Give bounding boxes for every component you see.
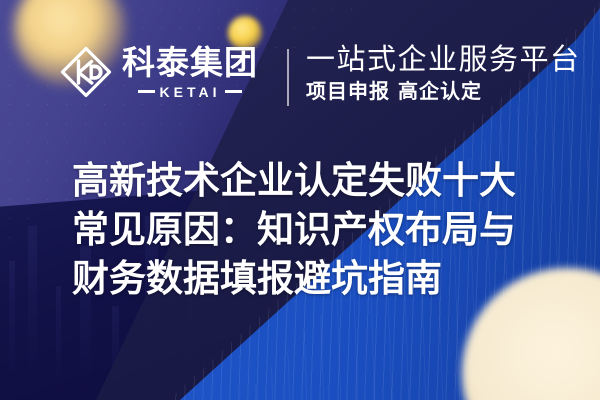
brand-lockup: 科泰集团 KETAI: [58, 44, 258, 100]
tagline-sub: 项目申报 高企认定: [306, 79, 581, 104]
brand-name-en: KETAI: [160, 85, 221, 99]
tagline-group: 一站式企业服务平台 项目申报 高企认定: [306, 42, 581, 104]
promo-banner: 科泰集团 KETAI 一站式企业服务平台 项目申报 高企认定 高新技术企业认定失…: [0, 0, 600, 400]
brand-divider: [287, 49, 289, 106]
dash-left-icon: [138, 90, 155, 93]
tagline-main: 一站式企业服务平台: [306, 42, 581, 76]
brand-name-en-row: KETAI: [122, 85, 258, 99]
brand-name-cn: 科泰集团: [122, 46, 258, 80]
ketai-diamond-kd-logo-icon: [58, 44, 114, 100]
banner-headline: 高新技术企业认定失败十大常见原因：知识产权布局与财务数据填报避坑指南: [72, 156, 548, 304]
dash-right-icon: [225, 90, 242, 93]
